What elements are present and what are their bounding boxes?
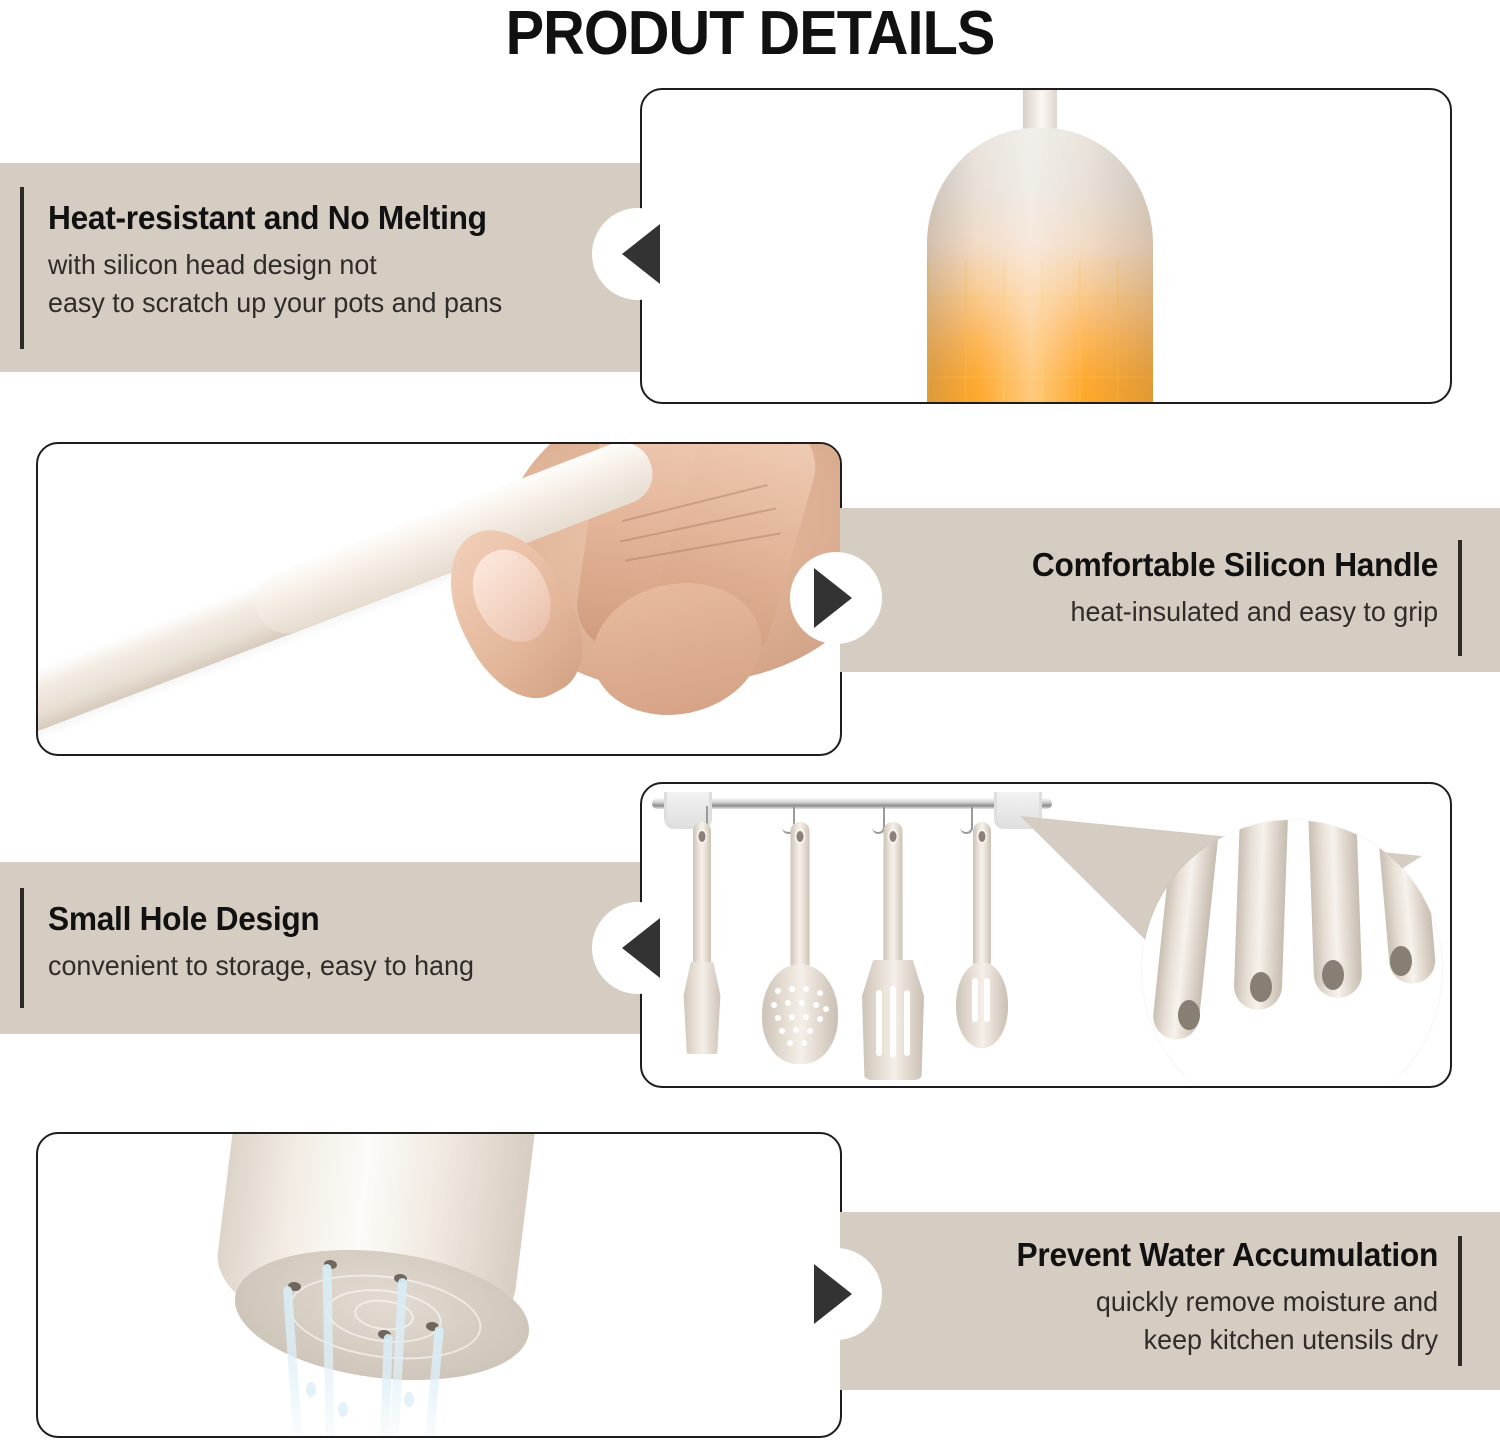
arrow-badge-heat-resistant [592, 208, 684, 300]
feature-image-prevent-water [36, 1132, 842, 1438]
spatula-shading [927, 128, 1153, 404]
spoon-slot [972, 978, 978, 1022]
arrow-badge-comfortable-handle [790, 552, 882, 644]
feature-subtitle-line-1: heat-insulated and easy to grip [1032, 594, 1438, 630]
infographic-root: PRODUT DETAILS Heat-resistant and No Mel… [0, 0, 1500, 1447]
feature-subtitle-line-2: easy to scratch up your pots and pans [48, 285, 502, 321]
handle-hole [890, 831, 897, 842]
feature-subtitle-line-1: quickly remove moisture and [1017, 1284, 1438, 1320]
handle-hole [699, 831, 706, 842]
triangle-right-icon [814, 568, 852, 628]
magnified-hole [1390, 946, 1412, 976]
accent-bar [1458, 540, 1462, 656]
utensil-handle [791, 822, 810, 974]
spatula-head [927, 128, 1153, 404]
triangle-left-icon [622, 224, 660, 284]
water-droplet [306, 1382, 316, 1397]
feature-title: Prevent Water Accumulation [1017, 1236, 1438, 1274]
utensil-spatula [676, 822, 728, 1052]
utensil-holder-draining-illustration [38, 1134, 840, 1436]
feature-title: Heat-resistant and No Melting [48, 199, 502, 237]
hanging-rail [652, 798, 1052, 809]
magnified-handle-holes [1142, 820, 1442, 1088]
utensil-skimmer [762, 822, 838, 1084]
utensil-handle [884, 822, 903, 970]
feature-text-comfortable-handle: Comfortable Silicon Handle heat-insulate… [1015, 546, 1438, 630]
feature-text-small-hole-design: Small Hole Design convenient to storage,… [48, 900, 492, 984]
feature-text-prevent-water: Prevent Water Accumulation quickly remov… [999, 1236, 1438, 1358]
arrow-badge-small-hole-design [592, 902, 684, 994]
spatula-blade [682, 962, 722, 1054]
magnified-hole [1322, 960, 1344, 990]
utensil-slotted-spoon [954, 822, 1010, 1052]
feature-title: Comfortable Silicon Handle [1032, 546, 1438, 584]
triangle-left-icon [622, 918, 660, 978]
feature-image-comfortable-handle [36, 442, 842, 756]
magnified-hole [1178, 1000, 1200, 1030]
accent-bar [20, 888, 24, 1008]
feature-image-small-hole-design [640, 782, 1452, 1088]
feature-image-heat-resistant [640, 88, 1452, 404]
handle-hole [797, 831, 804, 842]
feature-subtitle-line-1: with silicon head design not [48, 247, 502, 283]
feature-title: Small Hole Design [48, 900, 474, 938]
turner-slot [890, 986, 896, 1058]
utensil-handle [973, 822, 991, 970]
skimmer-perforations [771, 982, 829, 1052]
feature-text-heat-resistant: Heat-resistant and No Melting with silic… [48, 199, 521, 321]
accent-bar [1458, 1236, 1462, 1366]
turner-slot [904, 990, 910, 1056]
magnified-hole [1250, 972, 1272, 1002]
feature-band-small-hole-design: Small Hole Design convenient to storage,… [0, 862, 660, 1034]
feature-subtitle-line-2: keep kitchen utensils dry [1017, 1322, 1438, 1358]
feature-band-comfortable-handle: Comfortable Silicon Handle heat-insulate… [840, 508, 1500, 672]
utensil-slotted-turner [860, 822, 926, 1080]
hand-holding-handle-illustration [38, 444, 840, 754]
water-droplet [338, 1402, 348, 1417]
water-droplet [404, 1392, 414, 1407]
feature-band-prevent-water: Prevent Water Accumulation quickly remov… [840, 1212, 1500, 1390]
utensil-handle [693, 822, 711, 972]
turner-slot [876, 990, 882, 1056]
spoon-bowl [956, 962, 1008, 1048]
feature-band-heat-resistant: Heat-resistant and No Melting with silic… [0, 163, 660, 372]
arrow-badge-prevent-water [790, 1248, 882, 1340]
page-title: PRODUT DETAILS [53, 0, 1448, 69]
triangle-right-icon [814, 1264, 852, 1324]
handle-hole [979, 831, 986, 842]
feature-subtitle-line-1: convenient to storage, easy to hang [48, 948, 474, 984]
spoon-slot [984, 978, 990, 1022]
accent-bar [20, 187, 24, 349]
